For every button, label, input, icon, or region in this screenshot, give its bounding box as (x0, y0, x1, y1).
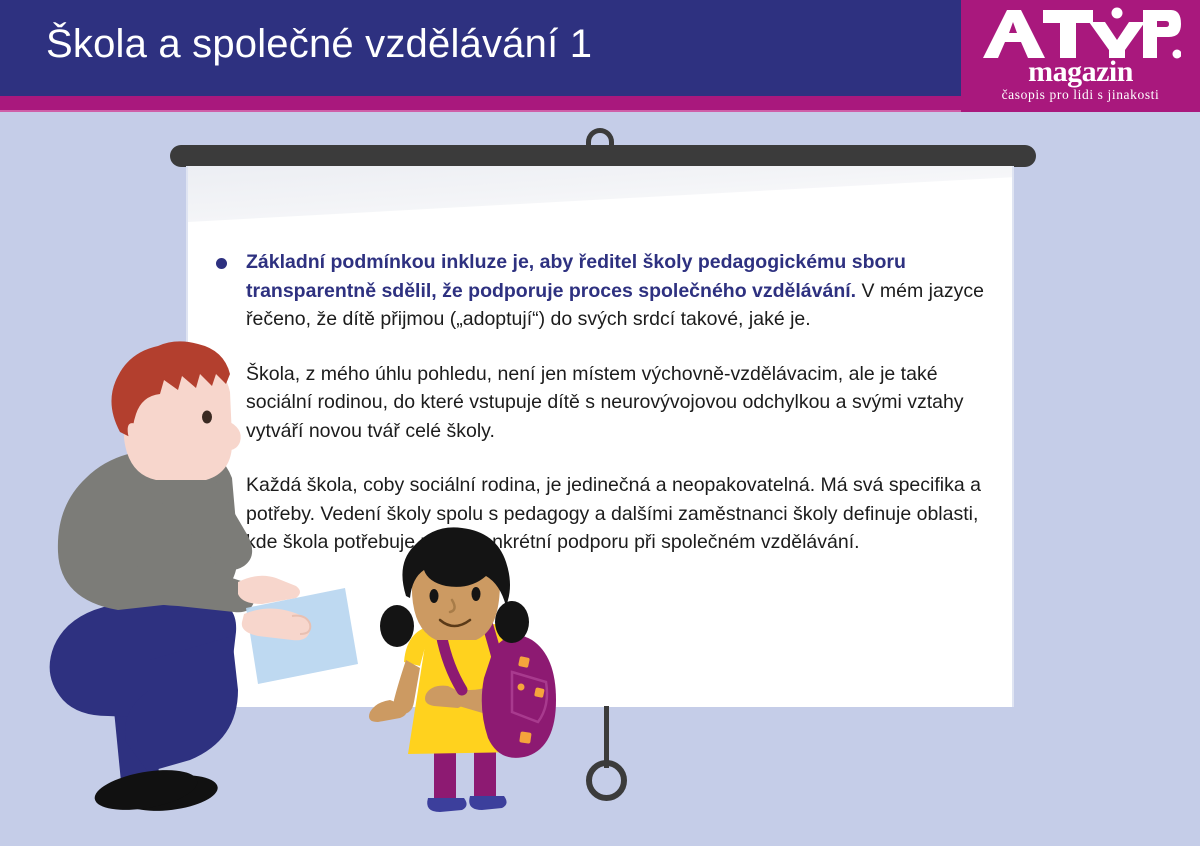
logo-block: magazin časopis pro lidi s jinakosti (961, 0, 1200, 112)
pull-cord-ring-icon[interactable] (586, 760, 627, 801)
slide-root: Škola a společné vzdělávání 1 magazin ča… (0, 0, 1200, 846)
pull-cord-line[interactable] (604, 706, 609, 768)
logo-subtitle: magazin (961, 57, 1200, 87)
teacher-ear (128, 423, 140, 444)
teacher-near-shoe (92, 763, 201, 817)
list-item: Škola, z mého úhlu pohledu, není jen mís… (216, 360, 986, 446)
bullet-dot-icon (216, 258, 227, 269)
pupil-shoe-left (427, 798, 466, 812)
screen-edge-right (1012, 166, 1014, 707)
bullet-body-text: Škola, z mého úhlu pohledu, není jen mís… (246, 363, 964, 442)
pupil-backpack-buckle-3 (519, 731, 531, 743)
screen-top-bar (170, 145, 1036, 167)
pupil-leg-left (434, 742, 456, 800)
pupil-shoe-right (469, 796, 506, 810)
screen-shade-gradient (188, 166, 1012, 222)
bullet-list: Základní podmínkou inkluze je, aby ředit… (216, 248, 986, 557)
list-item: Základní podmínkou inkluze je, aby ředit… (216, 248, 986, 334)
pupil-leg-right (474, 742, 496, 798)
teacher-far-leg (112, 690, 160, 792)
list-item: Každá škola, coby sociální rodina, je je… (216, 471, 986, 557)
bullet-dot-icon (216, 481, 227, 492)
bullet-dot-icon (216, 370, 227, 381)
bullet-body-text: Každá škola, coby sociální rodina, je je… (246, 474, 981, 553)
logo-wordmark-atyp (961, 6, 1200, 60)
bullet-lead-text: Základní podmínkou inkluze je, aby ředit… (246, 251, 906, 302)
logo-tagline: časopis pro lidi s jinakosti (961, 88, 1200, 102)
teacher-far-shoe (120, 770, 219, 815)
page-title: Škola a společné vzdělávání 1 (46, 22, 946, 67)
